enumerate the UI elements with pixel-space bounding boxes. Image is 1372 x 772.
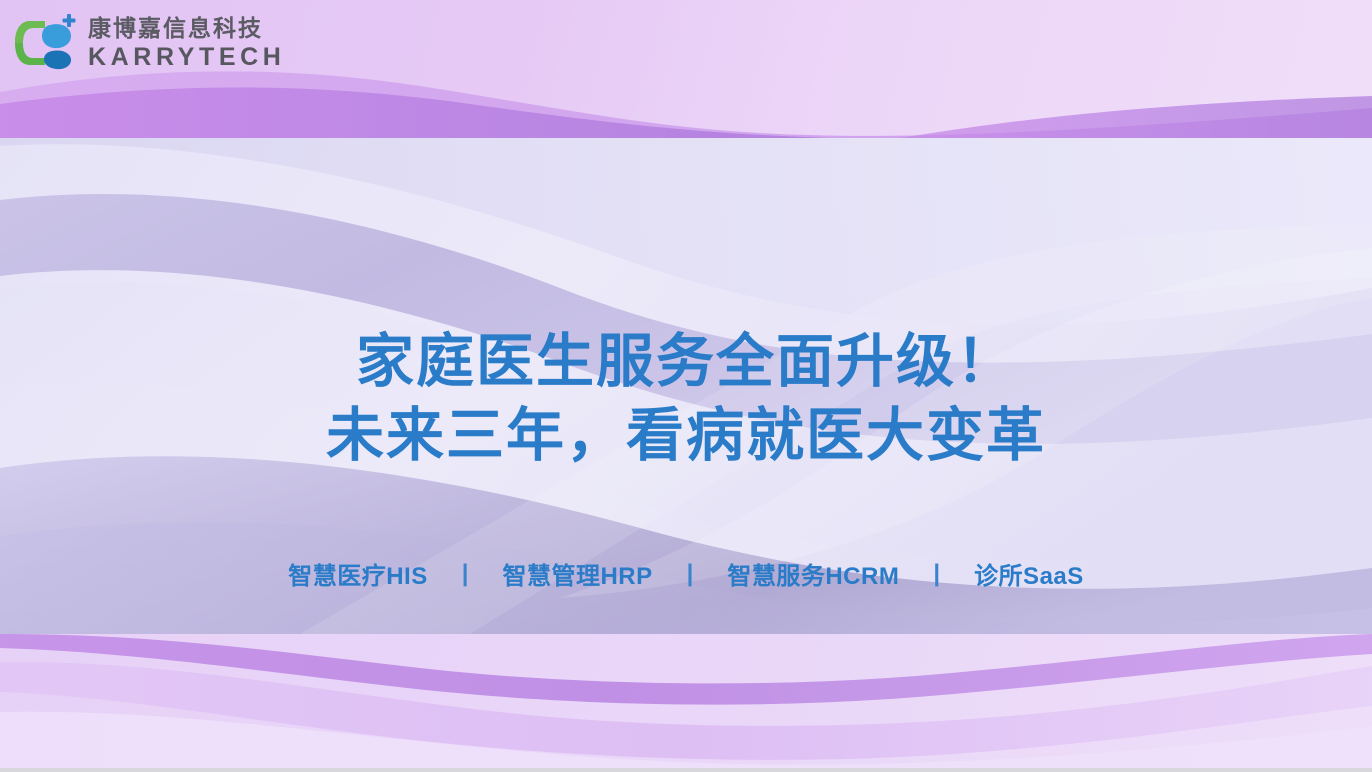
brand-lockup[interactable]: 康博嘉信息科技 KARRYTECH xyxy=(12,12,285,74)
footer-wave-graphic xyxy=(0,634,1372,768)
promo-slide: 康博嘉信息科技 KARRYTECH xyxy=(0,0,1372,772)
nav-item-hcrm[interactable]: 智慧服务HCRM xyxy=(715,556,911,591)
nav-separator-3: | xyxy=(911,560,962,588)
karrytech-logo-icon xyxy=(12,12,78,74)
footer-band xyxy=(0,634,1372,768)
header-band: 康博嘉信息科技 KARRYTECH xyxy=(0,0,1372,138)
nav-separator-1: | xyxy=(440,560,491,588)
brand-text-block: 康博嘉信息科技 KARRYTECH xyxy=(88,17,285,70)
nav-item-saas[interactable]: 诊所SaaS xyxy=(962,556,1096,591)
product-nav: 智慧医疗HIS | 智慧管理HRP | 智慧服务HCRM | 诊所SaaS xyxy=(0,556,1372,591)
plus-icon xyxy=(63,14,76,27)
bottom-edge-strip xyxy=(0,768,1372,772)
nav-item-hrp[interactable]: 智慧管理HRP xyxy=(490,556,664,591)
brand-name-en: KARRYTECH xyxy=(88,45,285,70)
nav-item-his[interactable]: 智慧医疗HIS xyxy=(276,556,440,591)
nav-separator-2: | xyxy=(665,560,716,588)
brand-name-cn: 康博嘉信息科技 xyxy=(88,17,285,40)
